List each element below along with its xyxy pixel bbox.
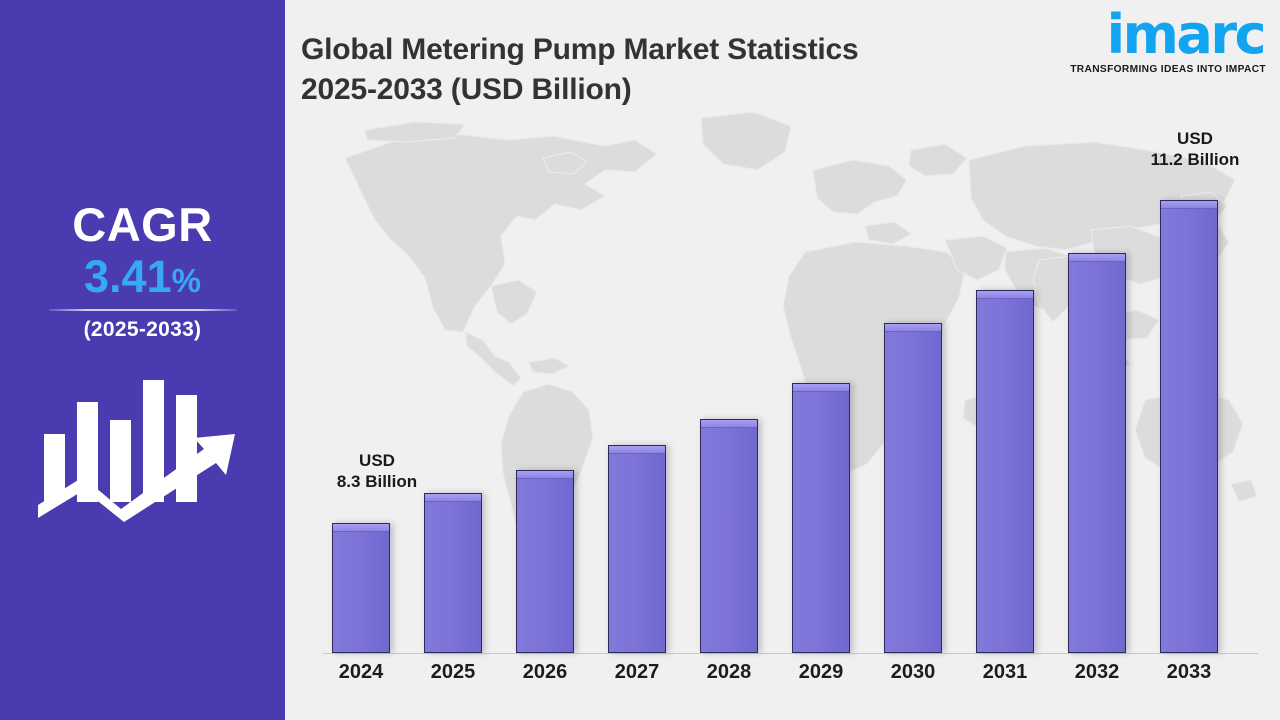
bar-2031[interactable]: [976, 290, 1034, 653]
cagr-label: CAGR: [72, 200, 212, 249]
xaxis-label-2031: 2031: [960, 661, 1050, 684]
xaxis-label-2025: 2025: [408, 661, 498, 684]
xaxis-label-2028: 2028: [684, 661, 774, 684]
callout-first-value: USD 8.3 Billion: [312, 450, 442, 493]
bar-cap: [793, 384, 849, 392]
bar-cap: [333, 524, 389, 532]
bar-cap: [425, 494, 481, 502]
cagr-value: 3.41%: [84, 251, 201, 303]
imarc-wordmark: imarc: [1066, 8, 1266, 62]
bar-cap: [885, 324, 941, 332]
page-title-line2: 2025-2033 (USD Billion): [301, 70, 1021, 110]
bar-cap: [1161, 201, 1217, 209]
cagr-period: (2025-2033): [84, 318, 202, 342]
imarc-logo[interactable]: imarc TRANSFORMING IDEAS INTO IMPACT: [1066, 8, 1266, 86]
bar-2026[interactable]: [516, 470, 574, 653]
bar-2027[interactable]: [608, 445, 666, 653]
bar-cap: [517, 471, 573, 479]
bar-2028[interactable]: [700, 419, 758, 653]
callout-last-value: USD 11.2 Billion: [1130, 128, 1260, 171]
callout-first-unit: USD: [312, 450, 442, 471]
growth-bar-chart-arrow-icon: [36, 372, 250, 522]
bar-2025[interactable]: [424, 493, 482, 653]
bar-2030[interactable]: [884, 323, 942, 653]
bar-2033[interactable]: [1160, 200, 1218, 653]
bar-cap: [609, 446, 665, 454]
axis-baseline: [323, 653, 1258, 654]
xaxis-label-2027: 2027: [592, 661, 682, 684]
callout-last-unit: USD: [1130, 128, 1260, 149]
bar-cap: [701, 420, 757, 428]
xaxis-label-2026: 2026: [500, 661, 590, 684]
xaxis-label-2024: 2024: [316, 661, 406, 684]
imarc-tagline: TRANSFORMING IDEAS INTO IMPACT: [1066, 64, 1266, 75]
bar-2024[interactable]: [332, 523, 390, 653]
callout-first-amount: 8.3 Billion: [312, 471, 442, 492]
bar-2032[interactable]: [1068, 253, 1126, 653]
bar-2029[interactable]: [792, 383, 850, 653]
page-title-line1: Global Metering Pump Market Statistics: [301, 30, 1021, 70]
cagr-percent-sign: %: [172, 262, 201, 299]
infographic-page: CAGR 3.41% (2025-2033): [0, 0, 1280, 720]
bar-cap: [977, 291, 1033, 299]
xaxis-label-2030: 2030: [868, 661, 958, 684]
xaxis-label-2032: 2032: [1052, 661, 1142, 684]
page-title: Global Metering Pump Market Statistics 2…: [301, 30, 1021, 110]
callout-last-amount: 11.2 Billion: [1130, 149, 1260, 170]
cagr-number: 3.41: [84, 251, 172, 302]
bar-cap: [1069, 254, 1125, 262]
xaxis-label-2029: 2029: [776, 661, 866, 684]
cagr-sidebar: CAGR 3.41% (2025-2033): [0, 0, 285, 720]
xaxis-label-2033: 2033: [1144, 661, 1234, 684]
divider: [49, 309, 237, 311]
